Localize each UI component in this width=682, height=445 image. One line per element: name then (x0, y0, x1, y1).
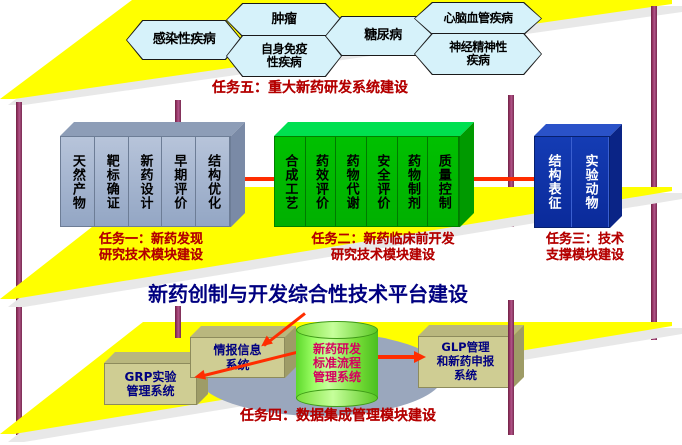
module-task3-col-0[interactable]: 结构表征 (535, 137, 572, 227)
module-task2[interactable]: 合成工艺 药效评价 药物代谢 安全评价 药物制剂 质量控制 (274, 122, 474, 227)
col-text: 早期评价 (172, 154, 185, 210)
col-text: 实验动物 (584, 154, 597, 210)
cylinder-core-system[interactable]: 新药研发 标准流程 管理系统 (296, 321, 378, 407)
box-glp-declaration-front: GLP管理 和新药申报 系统 (418, 336, 513, 388)
module-task3-col-1[interactable]: 实验动物 (572, 137, 609, 227)
col-text: 药效评价 (314, 154, 327, 210)
module-task1[interactable]: 天然产物 靶标确证 新药设计 早期评价 结构优化 (60, 122, 245, 227)
module-task3-side (610, 124, 622, 228)
col-text: 靶标确证 (105, 154, 118, 210)
module-task2-col-0[interactable]: 合成工艺 (275, 137, 306, 226)
col-text: 合成工艺 (283, 154, 296, 210)
hexagon-infectious[interactable]: 感染性疾病 (127, 21, 241, 59)
module-task2-col-1[interactable]: 药效评价 (306, 137, 337, 226)
hexagon-neuropsychiatric[interactable]: 神经精神性 疾病 (415, 34, 541, 74)
module-task2-col-2[interactable]: 药物代谢 (336, 137, 367, 226)
hexagon-cardiocerebral[interactable]: 心脑血管疾病 (415, 3, 541, 34)
module-task1-front: 天然产物 靶标确证 新药设计 早期评价 结构优化 (60, 136, 231, 227)
col-text: 新药设计 (138, 154, 151, 210)
hexagon-tumor[interactable]: 肿瘤 (227, 4, 341, 36)
module-task1-top (60, 122, 245, 136)
diagram-canvas: 感染性疾病 肿瘤 自身免疫 性疾病 糖尿病 心脑血管疾病 神经精神性 疾病 任务… (0, 0, 682, 445)
module-task1-col-3[interactable]: 早期评价 (162, 137, 196, 226)
box-glp-declaration-side (513, 325, 524, 388)
col-text: 药物制剂 (406, 154, 419, 210)
hexagon-autoimmune[interactable]: 自身免疫 性疾病 (227, 36, 341, 76)
col-text: 结构优化 (206, 154, 219, 210)
module-task3[interactable]: 结构表征 实验动物 (534, 124, 622, 228)
cylinder-bottom-cap (296, 389, 378, 407)
cylinder-label: 新药研发 标准流程 管理系统 (296, 343, 378, 384)
col-text: 天然产物 (71, 154, 84, 210)
box-grp-lab-front: GRP实验 管理系统 (104, 363, 197, 405)
module-task1-col-2[interactable]: 新药设计 (129, 137, 163, 226)
module-task2-col-4[interactable]: 药物制剂 (398, 137, 429, 226)
caption-task-two: 任务二：新药临床前开发 研究技术模块建设 (278, 232, 488, 265)
module-task2-col-3[interactable]: 安全评价 (367, 137, 398, 226)
arrow-core-to-glp (376, 350, 428, 364)
post-back-right-lower (508, 300, 514, 435)
col-text: 药物代谢 (345, 154, 358, 210)
module-task2-front: 合成工艺 药效评价 药物代谢 安全评价 药物制剂 质量控制 (274, 136, 460, 227)
cylinder-top-cap (296, 321, 378, 339)
module-task3-front: 结构表征 实验动物 (534, 136, 610, 228)
caption-task-five: 任务五：重大新药研发系统建设 (150, 80, 470, 98)
platform-title: 新药创制与开发综合性技术平台建设 (148, 278, 468, 307)
col-text: 结构表征 (547, 154, 560, 210)
module-task2-top (274, 122, 474, 136)
arrow-core-to-grp (196, 352, 306, 392)
caption-task-four: 任务四：数据集成管理模块建设 (178, 408, 498, 426)
module-task1-col-1[interactable]: 靶标确证 (95, 137, 129, 226)
caption-task-three: 任务三：技术 支撑模块建设 (515, 232, 655, 265)
module-task2-side (460, 122, 474, 227)
connector-task2-task3 (466, 177, 536, 181)
module-task1-side (231, 122, 245, 227)
module-task2-col-5[interactable]: 质量控制 (428, 137, 459, 226)
col-text: 安全评价 (375, 154, 388, 210)
module-task1-col-0[interactable]: 天然产物 (61, 137, 95, 226)
col-text: 质量控制 (437, 154, 450, 210)
module-task1-col-4[interactable]: 结构优化 (196, 137, 230, 226)
post-back-left-lower (175, 306, 181, 338)
module-task3-top (534, 124, 622, 136)
caption-task-one: 任务一：新药发现 研究技术模块建设 (56, 232, 246, 265)
